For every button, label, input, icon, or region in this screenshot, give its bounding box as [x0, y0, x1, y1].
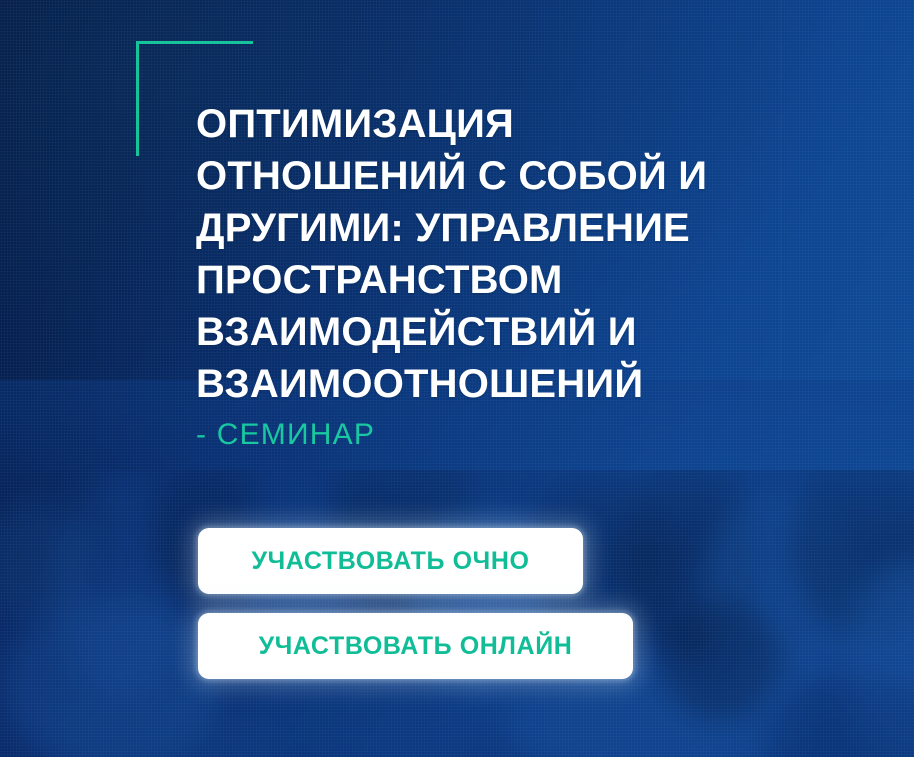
cta-button-group: УЧАСТВОВАТЬ ОЧНО УЧАСТВОВАТЬ ОНЛАЙН [198, 528, 633, 679]
title-line-3: ДРУГИМИ: УПРАВЛЕНИЕ [196, 202, 856, 254]
title-line-2: ОТНОШЕНИЙ С СОБОЙ И [196, 150, 856, 202]
hero-text-block: ОПТИМИЗАЦИЯ ОТНОШЕНИЙ С СОБОЙ И ДРУГИМИ:… [196, 98, 856, 452]
seminar-hero-banner: ОПТИМИЗАЦИЯ ОТНОШЕНИЙ С СОБОЙ И ДРУГИМИ:… [0, 0, 914, 757]
participate-online-button[interactable]: УЧАСТВОВАТЬ ОНЛАЙН [198, 613, 633, 679]
title-line-5: ВЗАИМОДЕЙСТВИЙ И [196, 306, 856, 358]
event-type-subtitle: - СЕМИНАР [196, 418, 856, 452]
title-line-6: ВЗАИМООТНОШЕНИЙ [196, 358, 856, 410]
title-line-4: ПРОСТРАНСТВОМ [196, 254, 856, 306]
title-line-1: ОПТИМИЗАЦИЯ [196, 98, 856, 150]
participate-in-person-button[interactable]: УЧАСТВОВАТЬ ОЧНО [198, 528, 583, 594]
page-title: ОПТИМИЗАЦИЯ ОТНОШЕНИЙ С СОБОЙ И ДРУГИМИ:… [196, 98, 856, 410]
